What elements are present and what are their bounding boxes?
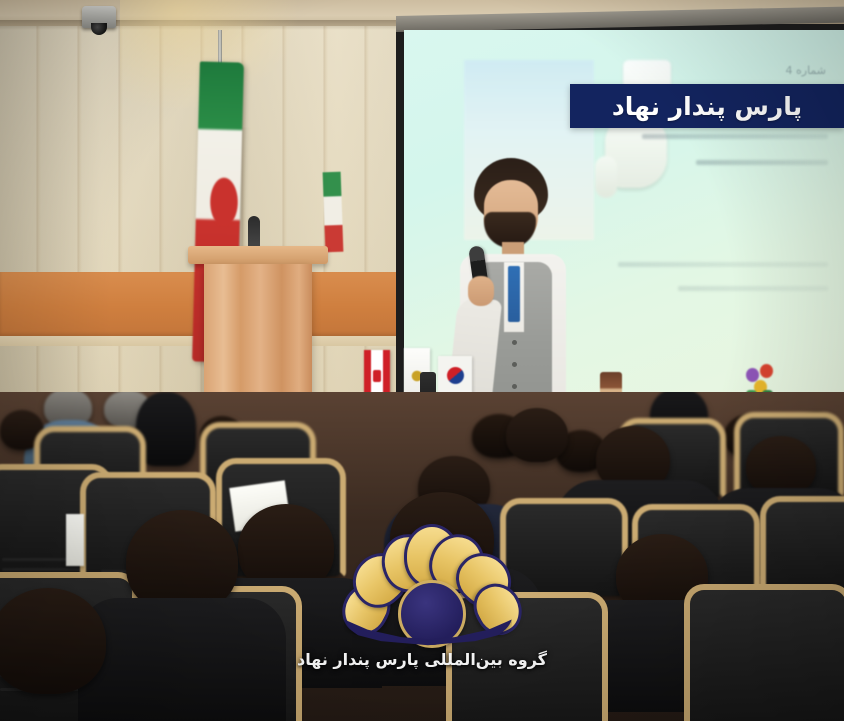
brand-banner: پارس پندار نهاد: [570, 84, 844, 128]
slide-text-line: [678, 286, 828, 291]
slide-text-line: [618, 262, 828, 267]
slide-text-line: [642, 134, 828, 139]
security-camera-icon: [82, 6, 116, 28]
podium-top: [188, 246, 328, 264]
thumbs-down-icon: [589, 60, 684, 200]
brand-banner-text: پارس پندار نهاد: [612, 92, 802, 121]
iran-flag-emblem: [206, 176, 242, 234]
audience-head: [746, 436, 816, 496]
screenshot-root: شماره 4 پارس پندار نهاد: [0, 0, 844, 721]
speaker-tie: [508, 266, 520, 322]
secondary-flag-icon: [323, 172, 344, 253]
chair: [766, 502, 844, 596]
speaker-hand: [468, 276, 494, 306]
audience-head: [0, 588, 106, 694]
handout-paper: [66, 514, 84, 566]
slide-corner-text: شماره 4: [786, 64, 827, 77]
brand-logo: [338, 524, 518, 644]
brand-caption: گروه بین‌المللی پارس پندار نهاد: [0, 650, 844, 669]
slide-text-line: [696, 160, 828, 165]
audience-head: [506, 408, 568, 462]
taegeuk-flag-icon: [438, 356, 472, 396]
